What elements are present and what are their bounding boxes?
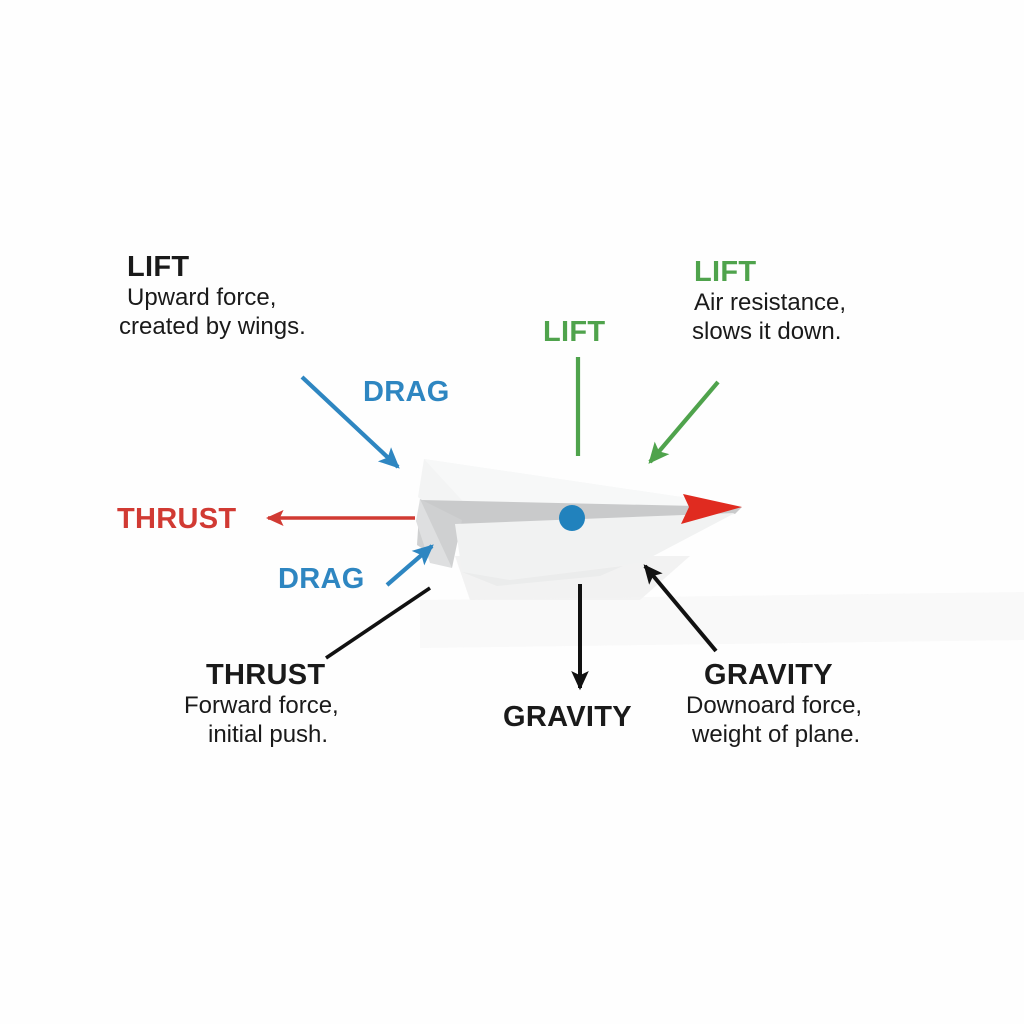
annotation-gravity-block: GRAVITY Downoard force, weight of plane. [704, 658, 862, 749]
annotation-gravity-block-desc-line1: Downoard force, [686, 692, 862, 720]
annotation-lift-left-desc-line2: created by wings. [119, 313, 306, 341]
annotation-thrust-block-title: THRUST [206, 658, 339, 692]
annotation-thrust-block-desc-line1: Forward force, [184, 692, 339, 720]
annotation-lift-right-desc: Air resistance, slows it down. [694, 289, 846, 346]
annotation-thrust-red: THRUST [117, 502, 236, 536]
annotation-lift-center: LIFT [543, 315, 605, 349]
ground-haze [420, 592, 1024, 648]
drag-lower-arrow [387, 546, 432, 585]
annotation-lift-right: LIFT Air resistance, slows it down. [694, 255, 846, 346]
lift-right-arrow [650, 382, 718, 462]
annotation-thrust-block-desc: Forward force, initial push. [206, 692, 339, 749]
annotation-lift-left-title: LIFT [127, 250, 306, 284]
thrust-leader-line [326, 588, 430, 658]
annotation-lift-right-desc-line1: Air resistance, [694, 289, 846, 317]
paper-airplane [416, 459, 742, 586]
annotation-lift-right-desc-line2: slows it down. [692, 318, 846, 346]
annotation-drag-upper: DRAG [363, 375, 450, 409]
annotation-gravity-center: GRAVITY [503, 700, 632, 734]
annotation-thrust-block: THRUST Forward force, initial push. [206, 658, 339, 749]
force-diagram-canvas: LIFT Upward force, created by wings. LIF… [0, 0, 1024, 1024]
annotation-gravity-block-title: GRAVITY [704, 658, 862, 692]
annotation-lift-left: LIFT Upward force, created by wings. [127, 250, 306, 341]
center-of-gravity-dot [559, 505, 585, 531]
annotation-thrust-block-desc-line2: initial push. [208, 721, 339, 749]
annotation-gravity-block-desc: Downoard force, weight of plane. [704, 692, 862, 749]
annotation-lift-left-desc: Upward force, created by wings. [127, 284, 306, 341]
annotation-gravity-block-desc-line2: weight of plane. [692, 721, 862, 749]
annotation-lift-right-title: LIFT [694, 255, 846, 289]
annotation-drag-lower: DRAG [278, 562, 365, 596]
annotation-lift-left-desc-line1: Upward force, [127, 284, 306, 312]
